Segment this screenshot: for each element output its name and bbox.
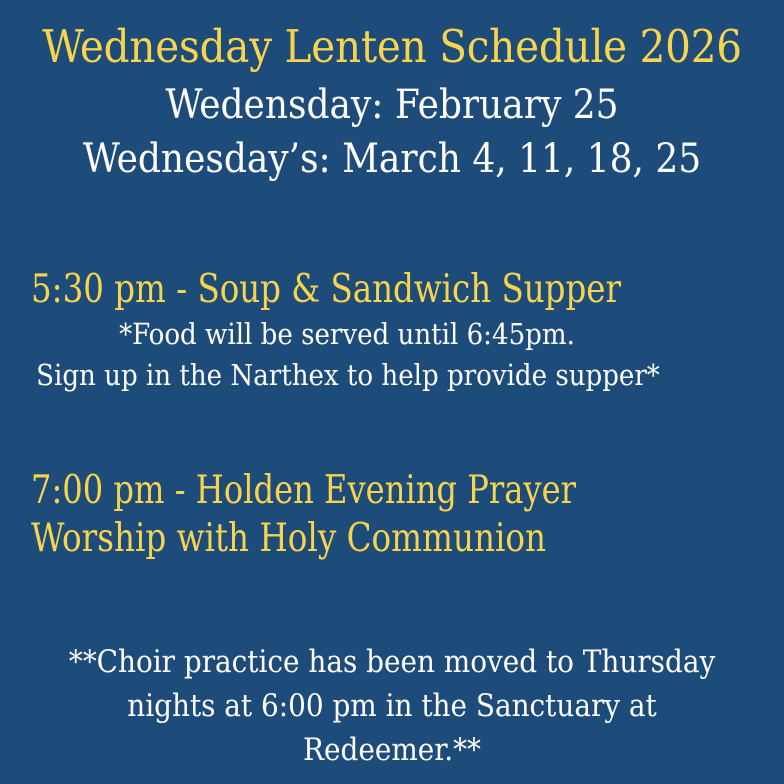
supper-note-line-2: Sign up in the Narthex to help provide s… bbox=[0, 361, 696, 390]
worship-subheading: Worship with Holy Communion bbox=[31, 519, 546, 558]
worship-heading: 7:00 pm - Holden Evening Prayer bbox=[31, 471, 576, 510]
header-date-line-2: Wednesday’s: March 4, 11, 18, 25 bbox=[0, 139, 784, 179]
choir-practice-footnote: **Choir practice has been moved to Thurs… bbox=[58, 640, 726, 772]
supper-note-line-1: *Food will be served until 6:45pm. bbox=[0, 320, 694, 349]
header-date-line-1: Wedensday: February 25 bbox=[0, 85, 784, 125]
lenten-schedule-poster: Wednesday Lenten Schedule 2026 Wedensday… bbox=[0, 0, 784, 784]
supper-heading: 5:30 pm - Soup & Sandwich Supper bbox=[31, 270, 621, 309]
page-title: Wednesday Lenten Schedule 2026 bbox=[0, 24, 784, 69]
